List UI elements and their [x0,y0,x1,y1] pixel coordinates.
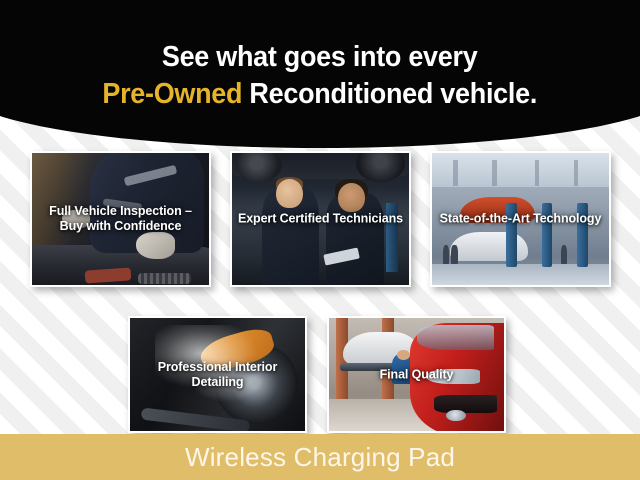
card-label-professional-interior-detailing: Professional Interior Detailing [130,360,305,390]
promo-graphic: See what goes into every Pre-Owned Recon… [0,0,640,480]
card-label-line-1: Expert Certified Technicians [237,212,404,227]
card-label-line-1: Final Quality [334,367,499,382]
header-text-block: See what goes into every Pre-Owned Recon… [0,0,640,148]
card-label-full-vehicle-inspection: Full Vehicle Inspection – Buy with Confi… [32,204,209,234]
card-state-of-the-art-technology[interactable]: State-of-the-Art Technology [430,151,611,287]
headline-line-2-rest: Reconditioned vehicle. [243,78,538,110]
card-label-line-1: State-of-the-Art Technology [437,212,604,227]
footer-caption-text: Wireless Charging Pad [185,442,455,473]
header-banner: See what goes into every Pre-Owned Recon… [0,0,640,148]
card-label-line-1: Full Vehicle Inspection – [37,204,204,219]
headline-highlight-word: Pre-Owned [103,78,243,110]
footer-caption-bar: Wireless Charging Pad [0,434,640,480]
card-professional-interior-detailing[interactable]: Professional Interior Detailing [128,316,307,433]
card-label-line-2: Buy with Confidence [37,219,204,234]
card-label-line-2: Detailing [135,375,300,390]
headline-line-2: Pre-Owned Reconditioned vehicle. [103,77,538,112]
card-full-vehicle-inspection[interactable]: Full Vehicle Inspection – Buy with Confi… [30,151,211,287]
card-final-quality[interactable]: Final Quality [327,316,506,433]
card-label-state-of-the-art-technology: State-of-the-Art Technology [432,212,609,227]
headline-line-1: See what goes into every [162,40,478,75]
card-expert-certified-technicians[interactable]: Expert Certified Technicians [230,151,411,287]
card-label-line-1: Professional Interior [135,360,300,375]
card-label-final-quality: Final Quality [329,367,504,382]
card-label-expert-certified-technicians: Expert Certified Technicians [232,212,409,227]
